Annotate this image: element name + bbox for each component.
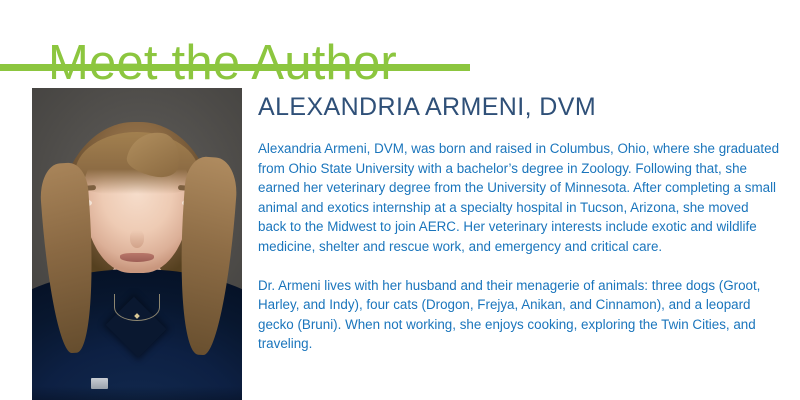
portrait-image bbox=[32, 88, 242, 400]
bio-paragraph: Alexandria Armeni, DVM, was born and rai… bbox=[258, 139, 780, 257]
author-name-heading: ALEXANDRIA ARMENI, DVM bbox=[258, 92, 780, 122]
page-title: Meet the Author bbox=[48, 31, 397, 95]
author-photo bbox=[32, 88, 242, 400]
title-underline-rule bbox=[0, 64, 470, 71]
nose-shape bbox=[130, 230, 144, 248]
bio-paragraph: Dr. Armeni lives with her husband and th… bbox=[258, 276, 780, 354]
mouth-shape bbox=[120, 253, 154, 262]
id-badge bbox=[91, 378, 108, 389]
slide-canvas: Meet the Author bbox=[0, 0, 800, 400]
shoulder-shadow bbox=[32, 386, 242, 400]
author-bio-column: ALEXANDRIA ARMENI, DVM Alexandria Armeni… bbox=[258, 92, 780, 354]
